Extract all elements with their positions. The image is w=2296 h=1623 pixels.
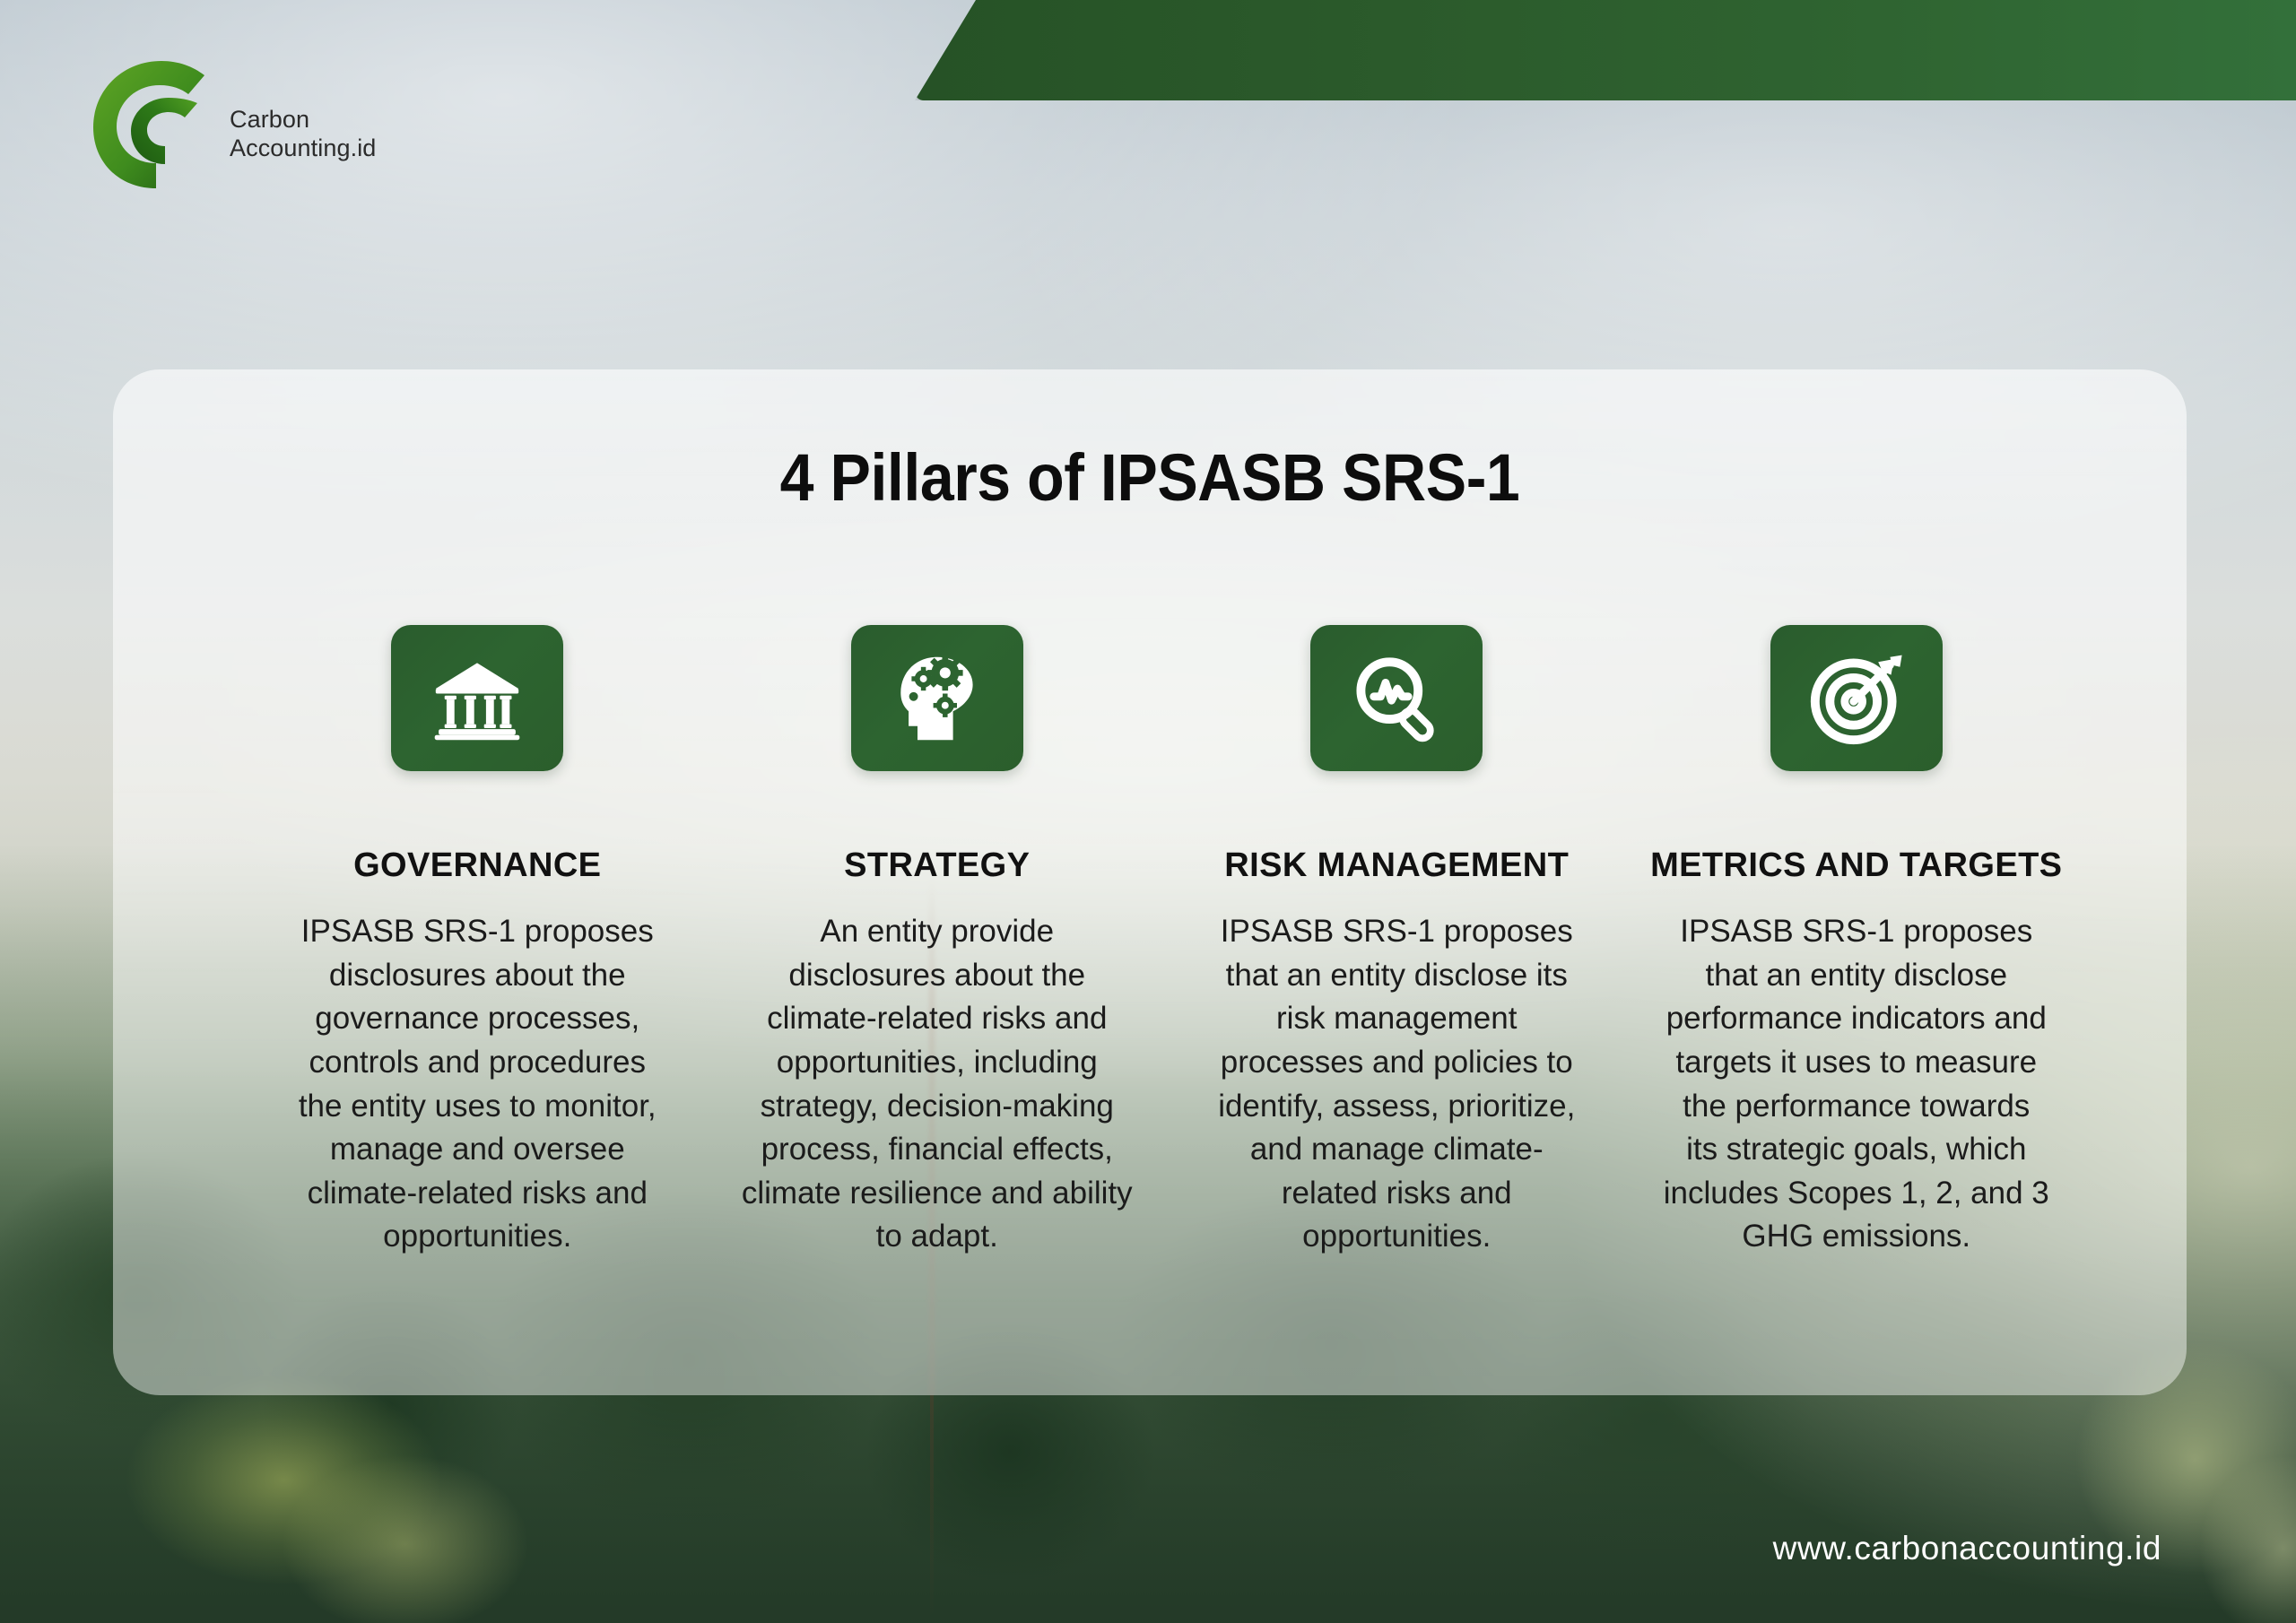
page-title: 4 Pillars of IPSASB SRS-1 — [196, 439, 2103, 516]
brand-logo[interactable]: Carbon Accounting.id — [86, 56, 376, 190]
content-card: 4 Pillars of IPSASB SRS-1 — [113, 369, 2187, 1395]
pillar-strategy: STRATEGY An entity provide disclosures a… — [708, 625, 1168, 1259]
foliage-highlight-left — [91, 1363, 596, 1623]
pillar-body: IPSASB SRS-1 proposes that an entity dis… — [1664, 910, 2049, 1259]
pillar-body: IPSASB SRS-1 proposes disclosures about … — [284, 910, 670, 1259]
pillar-title: STRATEGY — [844, 846, 1030, 885]
top-green-banner — [915, 0, 2296, 100]
pillar-body: An entity provide disclosures about the … — [740, 910, 1135, 1259]
brand-logo-text: Carbon Accounting.id — [230, 106, 376, 163]
risk-management-icon-tile[interactable] — [1310, 625, 1483, 771]
infographic-slide: Carbon Accounting.id 4 Pillars of IPSASB… — [0, 0, 2296, 1623]
target-arrow-icon — [1807, 649, 1906, 748]
strategy-icon-tile[interactable] — [851, 625, 1023, 771]
pillar-risk-management: RISK MANAGEMENT IPSASB SRS-1 proposes th… — [1167, 625, 1627, 1259]
bank-building-icon — [428, 649, 526, 748]
pillars-row: GOVERNANCE IPSASB SRS-1 proposes disclos… — [248, 625, 2086, 1259]
pillar-title: GOVERNANCE — [353, 846, 601, 885]
metrics-targets-icon-tile[interactable] — [1770, 625, 1943, 771]
governance-icon-tile[interactable] — [391, 625, 563, 771]
pillar-body: IPSASB SRS-1 proposes that an entity dis… — [1204, 910, 1589, 1259]
carbon-c-swirl-icon — [86, 56, 230, 190]
footer-website-url[interactable]: www.carbonaccounting.id — [1773, 1530, 2161, 1567]
magnifier-pulse-icon — [1347, 649, 1446, 748]
head-with-gears-icon — [888, 649, 987, 748]
pillar-title: METRICS AND TARGETS — [1650, 846, 2062, 885]
pillar-title: RISK MANAGEMENT — [1224, 846, 1569, 885]
pillar-metrics-targets: METRICS AND TARGETS IPSASB SRS-1 propose… — [1627, 625, 2087, 1259]
pillar-governance: GOVERNANCE IPSASB SRS-1 proposes disclos… — [248, 625, 708, 1259]
